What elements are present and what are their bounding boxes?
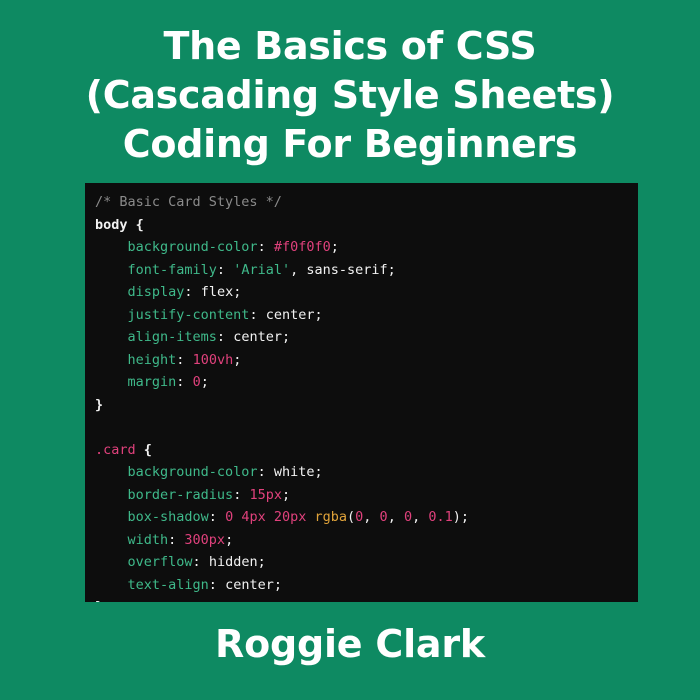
code-line: margin: 0; (95, 371, 638, 394)
code-token: 0 (404, 509, 412, 525)
code-token: , (388, 509, 404, 525)
code-token: 0 4px 20px (225, 509, 306, 525)
code-token: } (95, 599, 103, 602)
code-token: ; (201, 374, 209, 390)
code-token: border-radius (128, 487, 234, 503)
code-token (95, 284, 128, 300)
code-token: : (184, 284, 200, 300)
code-token (95, 509, 128, 525)
code-token: : (193, 554, 209, 570)
title-line-2: (Cascading Style Sheets) (24, 71, 676, 120)
code-token: ; (282, 487, 290, 503)
code-line: align-items: center; (95, 326, 638, 349)
code-token: { (136, 217, 144, 233)
code-token: ( (347, 509, 355, 525)
code-token: rgba (314, 509, 347, 525)
code-line: background-color: white; (95, 461, 638, 484)
code-line: background-color: #f0f0f0; (95, 236, 638, 259)
code-token: 15px (249, 487, 282, 503)
code-token (95, 464, 128, 480)
code-token (95, 487, 128, 503)
code-line: width: 300px; (95, 529, 638, 552)
code-token: ; (233, 284, 241, 300)
code-token: : (176, 374, 192, 390)
code-token: { (144, 442, 152, 458)
code-token: sans-serif (306, 262, 387, 278)
code-token (95, 307, 128, 323)
author-block: Roggie Clark (0, 618, 700, 670)
code-token: ); (453, 509, 469, 525)
code-token: : (176, 352, 192, 368)
code-token: } (95, 397, 103, 413)
code-token: : (249, 307, 265, 323)
code-token: center (233, 329, 282, 345)
code-line: /* Basic Card Styles */ (95, 191, 638, 214)
code-token: align-items (128, 329, 217, 345)
code-line: overflow: hidden; (95, 551, 638, 574)
code-token: white (274, 464, 315, 480)
code-line: justify-content: center; (95, 304, 638, 327)
code-token: ; (314, 307, 322, 323)
code-token: font-family (128, 262, 217, 278)
code-token (95, 374, 128, 390)
title-line-1: The Basics of CSS (24, 22, 676, 71)
code-token: 300px (184, 532, 225, 548)
code-token: hidden (209, 554, 258, 570)
code-line: .card { (95, 439, 638, 462)
code-token: display (128, 284, 185, 300)
code-line: } (95, 596, 638, 602)
code-token: 0.1 (428, 509, 452, 525)
code-token: ; (225, 532, 233, 548)
code-token: justify-content (128, 307, 250, 323)
code-token (95, 352, 128, 368)
code-token: width (128, 532, 169, 548)
code-line: body { (95, 214, 638, 237)
code-line: height: 100vh; (95, 349, 638, 372)
code-token: 0 (193, 374, 201, 390)
code-token: box-shadow (128, 509, 209, 525)
page-title: The Basics of CSS (Cascading Style Sheet… (0, 22, 700, 169)
code-token: text-align (128, 577, 209, 593)
code-token: ; (258, 554, 266, 570)
code-token: flex (201, 284, 234, 300)
code-token: : (209, 509, 225, 525)
code-token: 100vh (193, 352, 234, 368)
code-token: background-color (128, 464, 258, 480)
code-token (136, 442, 144, 458)
code-token (95, 532, 128, 548)
code-token: : (217, 329, 233, 345)
code-token: ; (282, 329, 290, 345)
code-token: , (363, 509, 379, 525)
poster-canvas: The Basics of CSS (Cascading Style Sheet… (0, 0, 700, 700)
code-line: } (95, 394, 638, 417)
title-line-3: Coding For Beginners (24, 120, 676, 169)
code-line: font-family: 'Arial', sans-serif; (95, 259, 638, 282)
code-line: display: flex; (95, 281, 638, 304)
code-token (95, 554, 128, 570)
code-token (95, 262, 128, 278)
code-token: center (266, 307, 315, 323)
code-token: ; (388, 262, 396, 278)
code-token (128, 217, 136, 233)
code-token: margin (128, 374, 177, 390)
code-token: : (258, 239, 274, 255)
code-token: .card (95, 442, 136, 458)
code-token: , (412, 509, 428, 525)
code-lines-container: /* Basic Card Styles */body { background… (95, 191, 638, 602)
code-line (95, 416, 638, 439)
code-token: : (209, 577, 225, 593)
code-token: : (217, 262, 233, 278)
code-line: text-align: center; (95, 574, 638, 597)
code-token: ; (233, 352, 241, 368)
code-token: body (95, 217, 128, 233)
code-token: 0 (380, 509, 388, 525)
code-token: ; (331, 239, 339, 255)
code-token: overflow (128, 554, 193, 570)
code-token: ; (314, 464, 322, 480)
code-token: , (290, 262, 306, 278)
code-token (95, 239, 128, 255)
code-token (95, 577, 128, 593)
code-token: : (258, 464, 274, 480)
code-token: /* Basic Card Styles */ (95, 194, 282, 210)
code-token: center (225, 577, 274, 593)
code-token: ; (274, 577, 282, 593)
code-token (95, 329, 128, 345)
code-token: 'Arial' (233, 262, 290, 278)
code-token: : (233, 487, 249, 503)
code-token: height (128, 352, 177, 368)
code-token: #f0f0f0 (274, 239, 331, 255)
code-line: box-shadow: 0 4px 20px rgba(0, 0, 0, 0.1… (95, 506, 638, 529)
code-snippet-panel: /* Basic Card Styles */body { background… (85, 183, 638, 602)
code-token: : (168, 532, 184, 548)
author-name: Roggie Clark (215, 622, 485, 666)
code-token: background-color (128, 239, 258, 255)
code-line: border-radius: 15px; (95, 484, 638, 507)
